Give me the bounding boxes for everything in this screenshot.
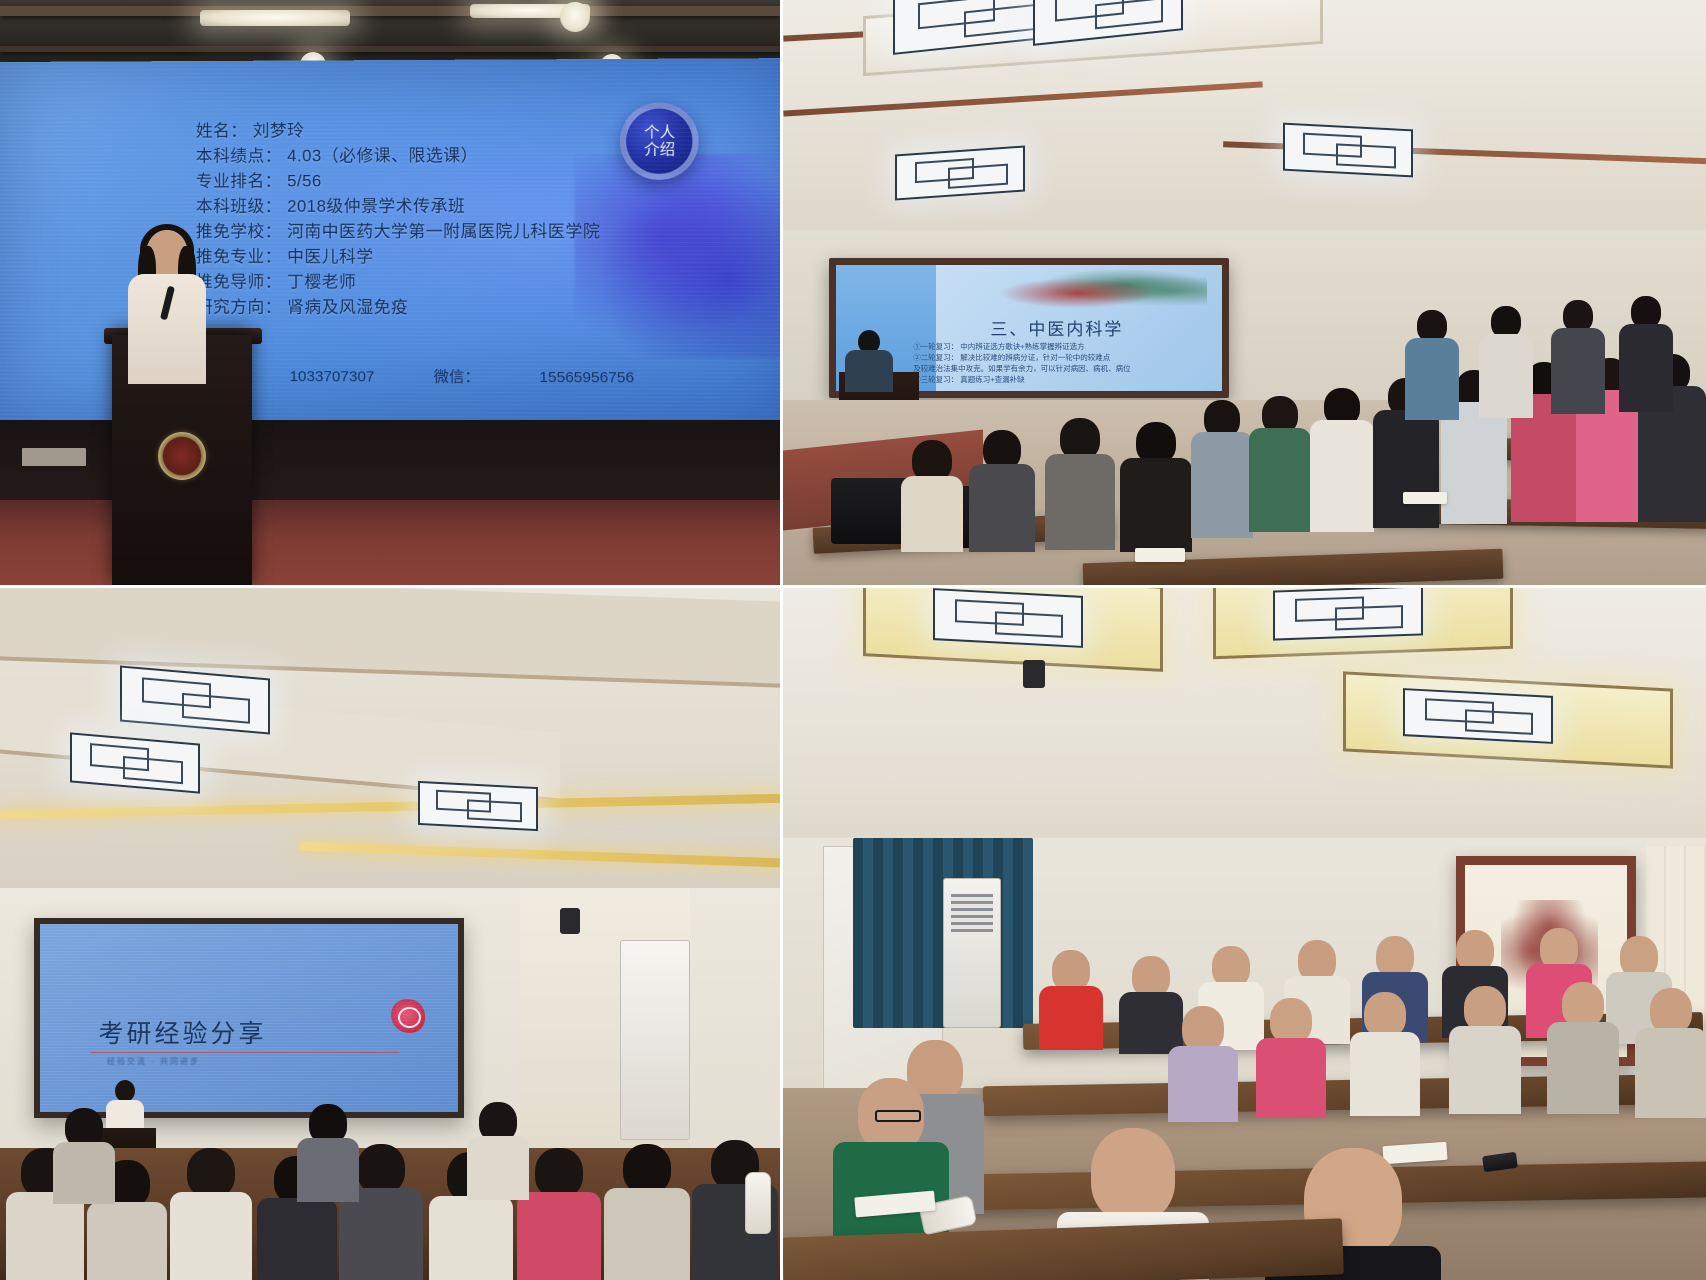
audience-member bbox=[1261, 998, 1321, 1114]
chair bbox=[831, 478, 911, 544]
foliage-ornament-icon bbox=[990, 268, 1206, 311]
audience-member bbox=[1315, 388, 1369, 538]
torso bbox=[1635, 1028, 1706, 1118]
audience-member bbox=[176, 1148, 246, 1280]
wechat-label: 微信： bbox=[434, 369, 480, 386]
slide-body-line: ②二轮复习： 解决比较难的辨病分证，针对一轮中的较难点 bbox=[913, 352, 1214, 363]
audience-member bbox=[56, 1108, 112, 1200]
panel-speaker-intro-slide[interactable]: 个人 介绍 姓名： 刘梦玲 本科绩点： 4.03（必修课、限选课） 专业排名： … bbox=[0, 0, 783, 588]
eyeglasses-icon bbox=[875, 1110, 921, 1122]
torso bbox=[1045, 454, 1115, 550]
torso bbox=[257, 1198, 337, 1280]
torso bbox=[170, 1192, 252, 1280]
slide-body-line: ③三轮复习： 真题练习+查漏补缺 bbox=[913, 374, 1214, 385]
torso bbox=[1191, 432, 1253, 538]
torso bbox=[1120, 458, 1192, 552]
torso bbox=[1373, 410, 1439, 528]
slide-row-rank: 专业排名： 5/56 bbox=[196, 169, 600, 195]
audience-member bbox=[612, 1144, 682, 1280]
torso bbox=[53, 1142, 115, 1204]
torso bbox=[969, 464, 1035, 552]
torso bbox=[1551, 328, 1605, 414]
head bbox=[187, 1148, 235, 1198]
water-bottle bbox=[745, 1172, 771, 1234]
head bbox=[115, 1080, 135, 1102]
torso bbox=[1619, 324, 1673, 412]
torso bbox=[517, 1192, 601, 1280]
slide-row-school: 推免学校： 河南中医药大学第一附属医院儿科医学院 bbox=[196, 220, 600, 245]
greek-key-ceiling-light bbox=[1403, 688, 1553, 744]
head bbox=[623, 1144, 671, 1194]
torso bbox=[1405, 338, 1459, 420]
slide-subtitle: 经验交流 · 共同进步 bbox=[107, 1056, 200, 1067]
notebook bbox=[1135, 548, 1185, 562]
torso bbox=[1547, 1022, 1619, 1114]
audience-member bbox=[1553, 982, 1613, 1110]
audience-member bbox=[1123, 956, 1179, 1052]
torso bbox=[1350, 1032, 1420, 1116]
torso bbox=[1310, 420, 1374, 532]
ceiling-downlight bbox=[560, 2, 590, 32]
torso bbox=[1449, 1026, 1521, 1114]
slide-row-research: 研究方向： 肾病及风湿免疫 bbox=[196, 295, 600, 321]
ceiling-beam-2 bbox=[0, 46, 780, 52]
torso bbox=[1249, 428, 1311, 532]
decorative-ink-blob bbox=[574, 154, 783, 358]
slide-row-major: 推免专业： 中医儿科学 bbox=[196, 245, 600, 271]
greek-key-ceiling-light bbox=[1283, 123, 1413, 178]
presenter-figure bbox=[120, 230, 212, 380]
slide-contact-row: Q：1033707307微信：15565956756 bbox=[204, 365, 694, 388]
badge-line-2: 介绍 bbox=[644, 141, 675, 159]
head bbox=[1091, 1128, 1175, 1222]
greek-key-ceiling-light bbox=[933, 588, 1083, 648]
slide-body-line: 及较难治法集中攻克。如果学有余力，可以针对病因、病机、病位 bbox=[913, 363, 1214, 374]
audience-member bbox=[470, 1102, 526, 1196]
head bbox=[535, 1148, 583, 1198]
ceiling-light bbox=[200, 10, 350, 26]
torso bbox=[467, 1136, 529, 1200]
audience-member bbox=[1127, 422, 1185, 550]
wall-name-plate bbox=[22, 448, 86, 466]
notebook bbox=[1403, 492, 1447, 504]
torso bbox=[6, 1192, 84, 1280]
badge-line-1: 个人 bbox=[644, 124, 675, 142]
slide-row-gpa: 本科绩点： 4.03（必修课、限选课） bbox=[196, 143, 600, 169]
audience-member bbox=[1623, 296, 1669, 410]
wall-speaker-icon bbox=[1023, 660, 1045, 688]
slide-row-advisor: 推免导师： 丁樱老师 bbox=[196, 270, 600, 296]
audience-member bbox=[973, 430, 1031, 550]
head bbox=[357, 1144, 405, 1194]
audience-member bbox=[1195, 400, 1249, 540]
ceiling-beam bbox=[0, 6, 780, 16]
audience-member bbox=[1455, 986, 1515, 1110]
qq-value: 1033707307 bbox=[290, 368, 375, 385]
audience-member bbox=[1051, 418, 1109, 548]
audience-member bbox=[1355, 992, 1415, 1112]
audience-member bbox=[1555, 300, 1601, 412]
audience-member bbox=[1253, 396, 1307, 536]
audience-member bbox=[1641, 988, 1701, 1114]
torso bbox=[1256, 1038, 1326, 1118]
torso bbox=[297, 1138, 359, 1202]
university-seal-emblem-icon bbox=[158, 432, 206, 480]
panel-students-closeup[interactable]: E.COOL bbox=[783, 588, 1706, 1280]
torso bbox=[1441, 402, 1507, 524]
audience-member bbox=[300, 1104, 356, 1198]
presenter-torso bbox=[845, 350, 893, 392]
panel-hall-wide-from-back-left[interactable]: 考研经验分享 经验交流 · 共同进步 bbox=[0, 588, 783, 1280]
audience-member bbox=[524, 1148, 594, 1280]
slide-body-line: ①一轮复习： 中内辨证选方歌诀+熟练掌握辨证选方 bbox=[913, 341, 1214, 352]
slide-body: ①一轮复习： 中内辨证选方歌诀+熟练掌握辨证选方 ②二轮复习： 解决比较难的辨病… bbox=[913, 341, 1214, 386]
greek-key-ceiling-light bbox=[1273, 588, 1423, 641]
audience-member bbox=[1173, 1006, 1233, 1118]
panel-hall-from-back-right[interactable]: 三、中医内科学 ①一轮复习： 中内辨证选方歌诀+熟练掌握辨证选方 ②二轮复习： … bbox=[783, 0, 1706, 588]
audience-member bbox=[903, 440, 961, 550]
slide-title: 三、中医内科学 bbox=[990, 315, 1123, 340]
standing-ac-unit bbox=[620, 940, 690, 1140]
slide-row-name: 姓名： 刘梦玲 bbox=[196, 118, 600, 145]
audience-member bbox=[1409, 310, 1455, 420]
torso bbox=[87, 1202, 167, 1280]
torso bbox=[1479, 334, 1533, 418]
greek-key-ceiling-light bbox=[895, 145, 1025, 200]
slide-row-class: 本科班级： 2018级仲景学术传承班 bbox=[196, 194, 600, 220]
torso bbox=[429, 1196, 513, 1280]
brain-head-icon bbox=[391, 999, 425, 1033]
greek-key-ceiling-light bbox=[418, 781, 538, 831]
slide-title: 考研经验分享 bbox=[99, 1014, 267, 1050]
wall-speaker-icon bbox=[560, 908, 580, 934]
standing-ac-unit bbox=[943, 878, 1001, 1028]
slide-underline bbox=[90, 1052, 399, 1053]
audience-member bbox=[1043, 950, 1099, 1046]
torso bbox=[1039, 986, 1103, 1050]
torso bbox=[604, 1188, 690, 1280]
intro-slide-text-block: 姓名： 刘梦玲 本科绩点： 4.03（必修课、限选课） 专业排名： 5/56 本… bbox=[196, 118, 600, 322]
wechat-value: 15565956756 bbox=[539, 369, 634, 387]
audience-member bbox=[1483, 306, 1529, 416]
projection-screen-title: 考研经验分享 经验交流 · 共同进步 bbox=[34, 918, 464, 1118]
torso bbox=[1168, 1046, 1238, 1122]
photo-collage-grid: 个人 介绍 姓名： 刘梦玲 本科绩点： 4.03（必修课、限选课） 专业排名： … bbox=[0, 0, 1706, 1280]
torso bbox=[901, 476, 963, 552]
